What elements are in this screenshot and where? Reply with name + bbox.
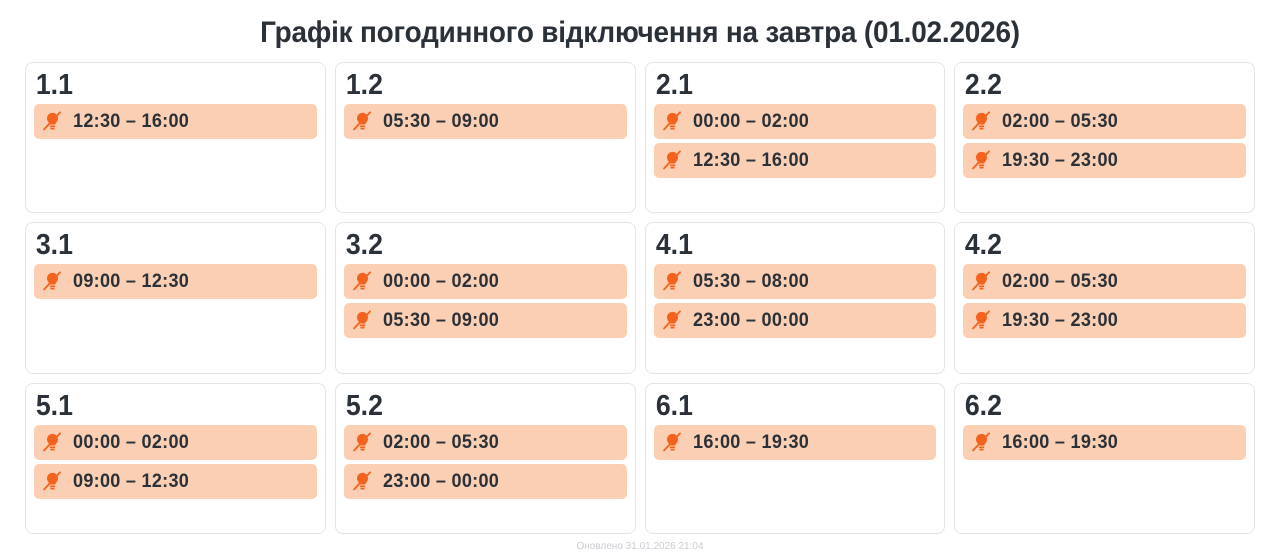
lightbulb-off-icon (662, 432, 683, 453)
lightbulb-off-icon (971, 310, 992, 331)
outage-slot-time: 05:30 – 09:00 (383, 310, 499, 331)
group-card[interactable]: 5.100:00 – 02:0009:00 – 12:30 (25, 383, 326, 534)
lightbulb-off-icon (42, 432, 63, 453)
group-card[interactable]: 2.100:00 – 02:0012:30 – 16:00 (645, 62, 946, 213)
outage-slot[interactable]: 09:00 – 12:30 (34, 464, 317, 499)
group-card[interactable]: 6.116:00 – 19:30 (645, 383, 946, 534)
group-label: 3.1 (34, 229, 294, 264)
outage-slot-time: 09:00 – 12:30 (73, 271, 189, 292)
group-card[interactable]: 2.202:00 – 05:3019:30 – 23:00 (954, 62, 1255, 213)
outage-schedule-page: Графік погодинного відключення на завтра… (0, 0, 1280, 559)
outage-slot-time: 05:30 – 08:00 (693, 271, 809, 292)
outage-slot-list: 09:00 – 12:30 (34, 264, 317, 299)
outage-slot-time: 19:30 – 23:00 (1002, 150, 1118, 171)
outage-slot[interactable]: 00:00 – 02:00 (344, 264, 627, 299)
group-label: 6.1 (654, 390, 914, 425)
group-label: 6.2 (963, 390, 1223, 425)
outage-slot-list: 16:00 – 19:30 (654, 425, 937, 460)
lightbulb-off-icon (42, 271, 63, 292)
lightbulb-off-icon (352, 432, 373, 453)
group-label: 4.2 (963, 229, 1223, 264)
outage-slot[interactable]: 02:00 – 05:30 (963, 104, 1246, 139)
outage-slot[interactable]: 23:00 – 00:00 (654, 303, 937, 338)
outage-slot-list: 05:30 – 08:0023:00 – 00:00 (654, 264, 937, 338)
outage-slot[interactable]: 00:00 – 02:00 (34, 425, 317, 460)
group-label: 1.2 (344, 69, 604, 104)
lightbulb-off-icon (662, 310, 683, 331)
group-label: 3.2 (344, 229, 604, 264)
lightbulb-off-icon (662, 150, 683, 171)
outage-slot-time: 02:00 – 05:30 (1002, 111, 1118, 132)
lightbulb-off-icon (352, 111, 373, 132)
lightbulb-off-icon (42, 471, 63, 492)
outage-slot-list: 02:00 – 05:3023:00 – 00:00 (344, 425, 627, 499)
outage-slot-time: 16:00 – 19:30 (1002, 432, 1118, 453)
group-card[interactable]: 3.109:00 – 12:30 (25, 222, 326, 373)
outage-slot[interactable]: 05:30 – 09:00 (344, 303, 627, 338)
outage-slot-time: 12:30 – 16:00 (73, 111, 189, 132)
lightbulb-off-icon (971, 432, 992, 453)
last-updated-label: Оновлено 31.01.2026 21:04 (0, 534, 1280, 559)
group-card[interactable]: 1.205:30 – 09:00 (335, 62, 636, 213)
outage-slot-time: 19:30 – 23:00 (1002, 310, 1118, 331)
outage-slot-list: 00:00 – 02:0005:30 – 09:00 (344, 264, 627, 338)
outage-slot[interactable]: 00:00 – 02:00 (654, 104, 937, 139)
lightbulb-off-icon (352, 271, 373, 292)
outage-slot-list: 12:30 – 16:00 (34, 104, 317, 139)
outage-slot[interactable]: 16:00 – 19:30 (654, 425, 937, 460)
outage-slot-list: 16:00 – 19:30 (963, 425, 1246, 460)
group-label: 5.2 (344, 390, 604, 425)
outage-slot-list: 00:00 – 02:0009:00 – 12:30 (34, 425, 317, 499)
outage-slot-list: 02:00 – 05:3019:30 – 23:00 (963, 104, 1246, 178)
outage-slot-time: 00:00 – 02:00 (383, 271, 499, 292)
outage-slot[interactable]: 23:00 – 00:00 (344, 464, 627, 499)
outage-slot[interactable]: 19:30 – 23:00 (963, 143, 1246, 178)
lightbulb-off-icon (42, 111, 63, 132)
group-card[interactable]: 1.112:30 – 16:00 (25, 62, 326, 213)
lightbulb-off-icon (971, 111, 992, 132)
outage-slot[interactable]: 05:30 – 08:00 (654, 264, 937, 299)
outage-slot-time: 23:00 – 00:00 (693, 310, 809, 331)
group-label: 2.1 (654, 69, 914, 104)
outage-slot-list: 02:00 – 05:3019:30 – 23:00 (963, 264, 1246, 338)
group-card[interactable]: 3.200:00 – 02:0005:30 – 09:00 (335, 222, 636, 373)
group-label: 1.1 (34, 69, 294, 104)
group-grid: 1.112:30 – 16:001.205:30 – 09:002.100:00… (0, 62, 1280, 534)
outage-slot-time: 09:00 – 12:30 (73, 471, 189, 492)
outage-slot-time: 02:00 – 05:30 (1002, 271, 1118, 292)
outage-slot-time: 00:00 – 02:00 (73, 432, 189, 453)
group-label: 5.1 (34, 390, 294, 425)
outage-slot[interactable]: 12:30 – 16:00 (34, 104, 317, 139)
outage-slot-time: 23:00 – 00:00 (383, 471, 499, 492)
outage-slot-time: 00:00 – 02:00 (693, 111, 809, 132)
outage-slot[interactable]: 05:30 – 09:00 (344, 104, 627, 139)
lightbulb-off-icon (662, 271, 683, 292)
outage-slot[interactable]: 19:30 – 23:00 (963, 303, 1246, 338)
group-card[interactable]: 5.202:00 – 05:3023:00 – 00:00 (335, 383, 636, 534)
outage-slot[interactable]: 02:00 – 05:30 (963, 264, 1246, 299)
outage-slot[interactable]: 16:00 – 19:30 (963, 425, 1246, 460)
outage-slot-time: 02:00 – 05:30 (383, 432, 499, 453)
lightbulb-off-icon (971, 271, 992, 292)
outage-slot[interactable]: 02:00 – 05:30 (344, 425, 627, 460)
lightbulb-off-icon (352, 471, 373, 492)
lightbulb-off-icon (971, 150, 992, 171)
outage-slot-time: 12:30 – 16:00 (693, 150, 809, 171)
lightbulb-off-icon (352, 310, 373, 331)
outage-slot-time: 16:00 – 19:30 (693, 432, 809, 453)
group-label: 4.1 (654, 229, 914, 264)
page-title: Графік погодинного відключення на завтра… (45, 0, 1235, 62)
group-card[interactable]: 4.202:00 – 05:3019:30 – 23:00 (954, 222, 1255, 373)
outage-slot-time: 05:30 – 09:00 (383, 111, 499, 132)
outage-slot[interactable]: 12:30 – 16:00 (654, 143, 937, 178)
group-card[interactable]: 6.216:00 – 19:30 (954, 383, 1255, 534)
group-card[interactable]: 4.105:30 – 08:0023:00 – 00:00 (645, 222, 946, 373)
lightbulb-off-icon (662, 111, 683, 132)
outage-slot-list: 00:00 – 02:0012:30 – 16:00 (654, 104, 937, 178)
outage-slot-list: 05:30 – 09:00 (344, 104, 627, 139)
outage-slot[interactable]: 09:00 – 12:30 (34, 264, 317, 299)
group-label: 2.2 (963, 69, 1223, 104)
